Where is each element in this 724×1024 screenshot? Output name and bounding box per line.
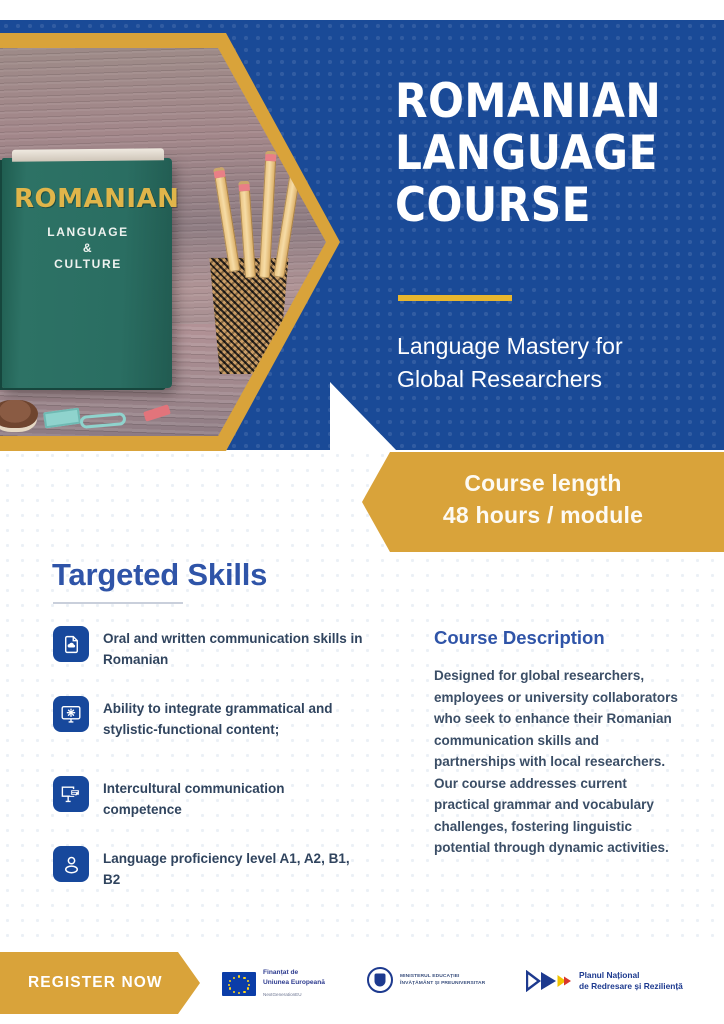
eu-label-line-1: Finanțat de xyxy=(263,968,325,978)
eu-funding-logo: Finanțat de Uniunea Europeană NextGenera… xyxy=(222,968,325,1000)
book-subtitle: LANGUAGE & CULTURE xyxy=(14,224,162,272)
title-line-1: ROMANIAN xyxy=(395,76,683,128)
book-subtitle-line-2: & xyxy=(14,240,162,256)
cookie-prop xyxy=(0,400,38,428)
poster-root: ROMANIAN LANGUAGE & CULTURE ROMANIAN LAN… xyxy=(0,0,724,1024)
skill-item-label: Language proficiency level A1, A2, B1, B… xyxy=(103,846,363,890)
eu-funding-label: Finanțat de Uniunea Europeană NextGenera… xyxy=(263,968,325,1000)
pnrr-label-line-1: Planul Național xyxy=(579,970,683,981)
register-now-label: REGISTER NOW xyxy=(0,974,163,992)
skill-item-label: Oral and written communication skills in… xyxy=(103,626,363,670)
title-line-3: COURSE xyxy=(395,180,683,232)
skill-item: Intercultural communication competence xyxy=(53,776,363,820)
course-length-label: Course length xyxy=(362,470,724,497)
eu-flag-icon xyxy=(222,972,256,996)
book-title: ROMANIAN xyxy=(14,184,162,214)
book-subtitle-line-3: CULTURE xyxy=(14,256,162,272)
skills-heading-underline xyxy=(53,602,183,604)
footer-logos: Finanțat de Uniunea Europeană NextGenera… xyxy=(222,962,712,1010)
eu-label-line-3: NextGenerationEU xyxy=(263,990,325,1000)
pnrr-label-line-2: de Redresare și Reziliență xyxy=(579,981,683,992)
description-body: Designed for global researchers, employe… xyxy=(434,665,680,859)
skill-item: Ability to integrate grammatical and sty… xyxy=(53,696,363,740)
skill-item: Language proficiency level A1, A2, B1, B… xyxy=(53,846,363,890)
register-now-button[interactable]: REGISTER NOW xyxy=(0,952,200,1014)
poster-subtitle: Language Mastery for Global Researchers xyxy=(397,330,687,396)
romanian-book: ROMANIAN LANGUAGE & CULTURE xyxy=(2,158,172,388)
course-length-value: 48 hours / module xyxy=(362,502,724,529)
title-underline xyxy=(398,295,512,301)
document-cloud-icon xyxy=(53,626,89,662)
pnrr-arrows-icon xyxy=(526,970,572,992)
ministry-label: MINISTERUL EDUCAȚIEI ÎNVĂȚĂMÂNT ȘI PREUN… xyxy=(400,973,485,987)
monitor-gear-icon xyxy=(53,696,89,732)
user-profile-icon xyxy=(53,846,89,882)
pnrr-logo: Planul Național de Redresare și Rezilien… xyxy=(526,970,683,992)
book-subtitle-line-1: LANGUAGE xyxy=(14,224,162,240)
subtitle-line-2: Global Researchers xyxy=(397,363,687,396)
subtitle-line-1: Language Mastery for xyxy=(397,330,687,363)
pnrr-label: Planul Național de Redresare și Rezilien… xyxy=(579,970,683,992)
ministry-logo: MINISTERUL EDUCAȚIEI ÎNVĂȚĂMÂNT ȘI PREUN… xyxy=(367,967,485,993)
ministry-label-line-1: MINISTERUL EDUCAȚIEI xyxy=(400,973,485,980)
skill-item-label: Intercultural communication competence xyxy=(103,776,363,820)
skill-item: Oral and written communication skills in… xyxy=(53,626,363,670)
eu-label-line-2: Uniunea Europeană xyxy=(263,978,325,988)
course-length-banner: Course length 48 hours / module xyxy=(362,452,724,552)
skills-heading: Targeted Skills xyxy=(52,557,267,593)
description-heading: Course Description xyxy=(434,627,605,649)
hero-photo: ROMANIAN LANGUAGE & CULTURE xyxy=(0,33,340,451)
skill-item-label: Ability to integrate grammatical and sty… xyxy=(103,696,363,740)
title-line-2: LANGUAGE xyxy=(395,128,683,180)
ministry-seal-icon xyxy=(367,967,393,993)
description-paragraph-1: Designed for global researchers, employe… xyxy=(434,665,680,773)
description-paragraph-2: Our course addresses current practical g… xyxy=(434,773,680,859)
poster-title: ROMANIAN LANGUAGE COURSE xyxy=(395,76,683,232)
book-pages xyxy=(12,148,164,162)
monitor-chat-icon xyxy=(53,776,89,812)
ministry-label-line-2: ÎNVĂȚĂMÂNT ȘI PREUNIVERSITAR xyxy=(400,980,485,987)
hero-photo-clip: ROMANIAN LANGUAGE & CULTURE xyxy=(0,48,326,436)
